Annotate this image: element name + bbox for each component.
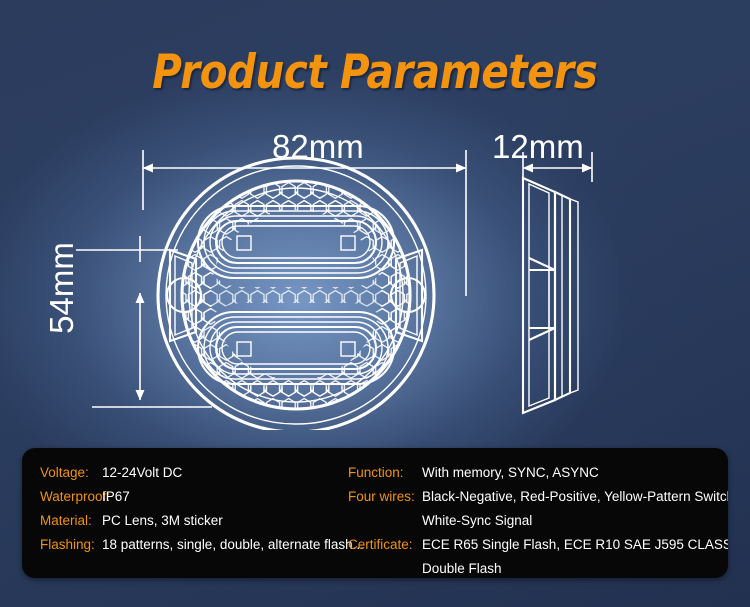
spec-value-material: PC Lens, 3M sticker — [102, 510, 360, 531]
spec-key-certificate: Certificate: — [348, 534, 422, 555]
spec-row-function: Function: With memory, SYNC, ASYNC — [348, 462, 720, 483]
dimension-label-width: 82mm — [272, 129, 364, 165]
title-bar: Product Parameters — [0, 46, 750, 100]
spec-value-certificate-continued: Double Flash — [422, 558, 720, 578]
spec-row-four-wires-continued: White-Sync Signal — [348, 510, 720, 531]
drawing-canvas — [0, 110, 750, 430]
technical-drawing: 82mm 12mm 54mm — [0, 110, 750, 430]
spec-row-certificate: Certificate: ECE R65 Single Flash, ECE R… — [348, 534, 720, 555]
spec-row-material: Material: PC Lens, 3M sticker — [40, 510, 360, 531]
side-view — [523, 178, 578, 413]
spec-key-function: Function: — [348, 462, 422, 483]
spec-key-flashing: Flashing: — [40, 534, 102, 555]
front-view — [158, 158, 434, 430]
spec-value-flashing: 18 patterns, single, double, alternate f… — [102, 534, 364, 555]
spec-key-material: Material: — [40, 510, 102, 531]
spec-row-certificate-continued: Double Flash — [348, 558, 720, 578]
specifications-panel: Voltage: 12-24Volt DC Waterproof: IP67 M… — [22, 448, 728, 578]
spec-value-voltage: 12-24Volt DC — [102, 462, 360, 483]
specs-column-right: Function: With memory, SYNC, ASYNC Four … — [348, 462, 720, 578]
spec-row-flashing: Flashing: 18 patterns, single, double, a… — [40, 534, 360, 555]
dimension-label-depth: 12mm — [492, 129, 584, 165]
spec-row-waterproof: Waterproof: IP67 — [40, 486, 360, 507]
spec-value-function: With memory, SYNC, ASYNC — [422, 462, 720, 483]
spec-value-four-wires-continued: White-Sync Signal — [422, 510, 720, 531]
spec-key-waterproof: Waterproof: — [40, 486, 102, 507]
spec-row-voltage: Voltage: 12-24Volt DC — [40, 462, 360, 483]
spec-value-certificate: ECE R65 Single Flash, ECE R10 SAE J595 C… — [422, 534, 728, 555]
spec-row-four-wires: Four wires: Black-Negative, Red-Positive… — [348, 486, 720, 507]
page-title: Product Parameters — [152, 46, 597, 100]
spec-value-four-wires: Black-Negative, Red-Positive, Yellow-Pat… — [422, 486, 728, 507]
product-parameters-page: Product Parameters 82mm 12mm 54mm — [0, 0, 750, 607]
spec-key-four-wires: Four wires: — [348, 486, 422, 507]
specs-column-left: Voltage: 12-24Volt DC Waterproof: IP67 M… — [40, 462, 360, 558]
spec-key-voltage: Voltage: — [40, 462, 102, 483]
spec-value-waterproof: IP67 — [102, 486, 360, 507]
dimension-label-height: 54mm — [44, 223, 80, 353]
